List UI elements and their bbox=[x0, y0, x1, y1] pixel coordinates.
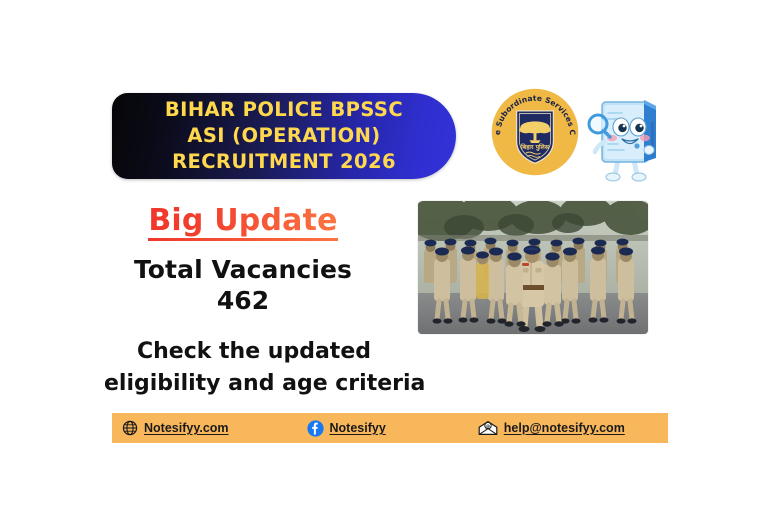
footer-facebook-label: Notesifyy bbox=[330, 421, 386, 435]
criteria-line-1: Check the updated bbox=[104, 336, 404, 368]
total-vacancies-count: 462 bbox=[112, 286, 374, 315]
criteria-text: Check the updated eligibility and age cr… bbox=[104, 336, 404, 400]
bpssc-logo-wrap: Bihar Police Subordinate Services Commis… bbox=[478, 82, 580, 186]
title-line-1: BIHAR POLICE BPSSC bbox=[165, 97, 403, 123]
big-update-label: Big Update bbox=[148, 203, 337, 241]
footer-email[interactable]: @ help@notesifyy.com bbox=[478, 413, 625, 443]
footer-website[interactable]: Notesifyy.com bbox=[122, 413, 229, 443]
footer-facebook[interactable]: Notesifyy bbox=[307, 413, 386, 443]
footer-bar: Notesifyy.com Notesifyy @ help@notesifyy… bbox=[112, 413, 668, 443]
book-mascot-wrap bbox=[582, 82, 674, 186]
police-parade-photo bbox=[418, 201, 648, 334]
book-mascot-icon bbox=[582, 82, 674, 186]
footer-website-label: Notesifyy.com bbox=[144, 421, 229, 435]
header-row: BIHAR POLICE BPSSC ASI (OPERATION) RECRU… bbox=[112, 80, 672, 188]
bpssc-logo-icon: Bihar Police Subordinate Services Commis… bbox=[489, 86, 581, 178]
big-update-heading: Big Update bbox=[112, 203, 374, 241]
facebook-icon bbox=[307, 420, 324, 437]
title-line-3: RECRUITMENT 2026 bbox=[172, 149, 396, 175]
svg-text:@: @ bbox=[486, 423, 491, 429]
envelope-icon: @ bbox=[478, 420, 498, 436]
poster-canvas: BIHAR POLICE BPSSC ASI (OPERATION) RECRU… bbox=[0, 0, 768, 512]
total-vacancies-label: Total Vacancies bbox=[112, 255, 374, 284]
police-parade-illustration bbox=[418, 201, 648, 334]
globe-icon bbox=[122, 420, 138, 436]
shield-hindi-label: बिहार पुलिस bbox=[520, 143, 550, 151]
footer-email-label: help@notesifyy.com bbox=[504, 421, 625, 435]
title-banner: BIHAR POLICE BPSSC ASI (OPERATION) RECRU… bbox=[112, 93, 456, 179]
criteria-line-2: eligibility and age criteria bbox=[104, 368, 404, 400]
title-line-2: ASI (OPERATION) bbox=[187, 123, 380, 149]
